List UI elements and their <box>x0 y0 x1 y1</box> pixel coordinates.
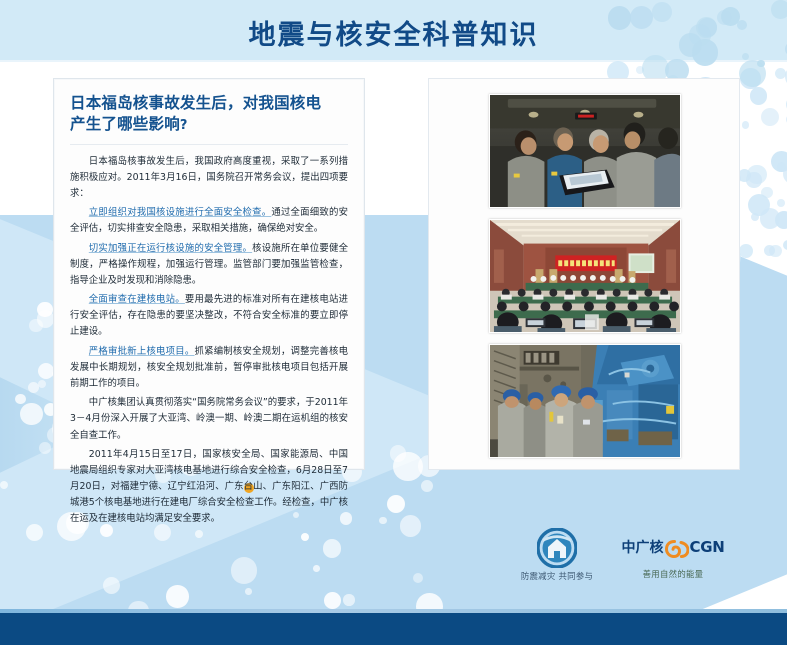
decorative-bubble <box>166 585 189 608</box>
poster-root: 地震与核安全科普知识 日本福岛核事故发生后，对我国核电 产生了哪些影响? 日本福… <box>0 0 787 645</box>
safety-conference-hall-photo <box>489 219 681 333</box>
cgn-logo-mark: 中广核 CGN <box>616 532 730 562</box>
decorative-bubble <box>421 480 433 492</box>
decorative-bubble <box>777 199 785 207</box>
decorative-bubble <box>764 245 775 256</box>
decorative-bubble <box>37 302 52 317</box>
article-paragraph: 2011年4月15日至17日，国家核安全局、国家能源局、中国地震局组织专家对大亚… <box>70 447 348 528</box>
photo-panel <box>428 78 740 470</box>
decorative-bubble <box>323 539 341 557</box>
decorative-bubble <box>742 53 749 60</box>
article-paragraph: 切实加强正在运行核设施的安全管理。核设施所在单位要健全制度，严格操作规程，加强运… <box>70 241 348 290</box>
article-paragraph: 严格审批新上核电项目。抓紧编制核安全规划，调整完善核电发展中长期规划，核安全规划… <box>70 344 348 393</box>
article-paragraph: 日本福岛核事故发生后，我国政府高度重视，采取了一系列措施积极应对。2011年3月… <box>70 154 348 203</box>
article-paragraph-lead: 立即组织对我国核设施进行全面安全检查。 <box>89 207 272 218</box>
cgn-brand-cn: 中广核 <box>622 537 664 557</box>
decorative-bubble <box>739 60 766 87</box>
decorative-bubble <box>746 172 761 187</box>
bottom-navy-bar <box>0 613 787 645</box>
article-paragraph-lead: 全面审查在建核电站。 <box>89 294 185 305</box>
article-card: 日本福岛核事故发生后，对我国核电 产生了哪些影响? 日本福岛核事故发生后，我国政… <box>53 78 365 470</box>
article-question-title: 日本福岛核事故发生后，对我国核电 产生了哪些影响? <box>70 93 348 136</box>
article-body: 日本福岛核事故发生后，我国政府高度重视，采取了一系列措施积极应对。2011年3月… <box>70 154 348 528</box>
decorative-bubble <box>231 557 257 583</box>
article-paragraph: 中广核集团认真贯彻落实“国务院常务会议”的要求，于2011年3－4月份深入开展了… <box>70 395 348 444</box>
decorative-bubble <box>39 442 51 454</box>
decorative-bubble <box>775 211 787 229</box>
cgn-brand-en: CGN <box>690 538 725 556</box>
decorative-bubble <box>775 68 786 79</box>
disaster-prevention-caption: 防震减灾 共同参与 <box>498 570 616 582</box>
article-paragraph-text: 中广核集团认真贯彻落实“国务院常务会议”的要求，于2011年3－4月份深入开展了… <box>70 397 348 440</box>
decorative-bubble <box>750 87 768 105</box>
decorative-bubble <box>15 394 25 404</box>
decorative-bubble <box>343 594 354 605</box>
question-title-line2: 产生了哪些影响 <box>70 115 180 133</box>
decorative-bubble <box>387 495 405 513</box>
disaster-prevention-logo: 防震减灾 共同参与 <box>498 528 616 582</box>
decorative-bubble <box>739 244 753 258</box>
cgn-caption: 善用自然的能量 <box>616 568 730 580</box>
plant-equipment-inspection-photo <box>489 344 681 458</box>
decorative-bubble <box>28 382 40 394</box>
inspection-team-reviewing-document-photo <box>489 94 681 208</box>
decorative-bubble <box>20 403 42 425</box>
orange-swirl-icon <box>665 539 689 559</box>
decorative-bubble <box>324 592 341 609</box>
article-paragraph: 全面审查在建核电站。要用最先进的标准对所有在建核电站进行安全评估，存在隐患的要坚… <box>70 292 348 341</box>
question-mark: ? <box>180 118 188 133</box>
article-paragraph-text: 2011年4月15日至17日，国家核安全局、国家能源局、中国地震局组织专家对大亚… <box>70 449 348 525</box>
footer-logos: 防震减灾 共同参与 中广核 CGN 善用自然的能量 <box>490 528 730 590</box>
decorative-bubble <box>742 121 750 129</box>
decorative-bubble <box>761 108 779 126</box>
question-title-line1: 日本福岛核事故发生后，对我国核电 <box>70 94 321 112</box>
disaster-prevention-seal-icon <box>498 528 616 568</box>
decorative-bubble <box>313 565 320 572</box>
cgn-logo: 中广核 CGN 善用自然的能量 <box>616 532 730 580</box>
article-paragraph-lead: 严格审批新上核电项目。 <box>89 346 195 357</box>
decorative-bubble <box>379 517 386 524</box>
article-paragraph-lead: 切实加强正在运行核设施的安全管理。 <box>89 243 252 254</box>
article-paragraph-text: 日本福岛核事故发生后，我国政府高度重视，采取了一系列措施积极应对。2011年3月… <box>70 156 348 199</box>
decorative-bubble <box>400 515 421 536</box>
title-divider <box>70 144 348 145</box>
decorative-bubble <box>245 588 251 594</box>
decorative-bubble <box>761 187 772 198</box>
article-paragraph: 立即组织对我国核设施进行全面安全检查。通过全面细致的安全评估，切实排查安全隐患，… <box>70 205 348 237</box>
page-title: 地震与核安全科普知识 <box>0 13 787 52</box>
